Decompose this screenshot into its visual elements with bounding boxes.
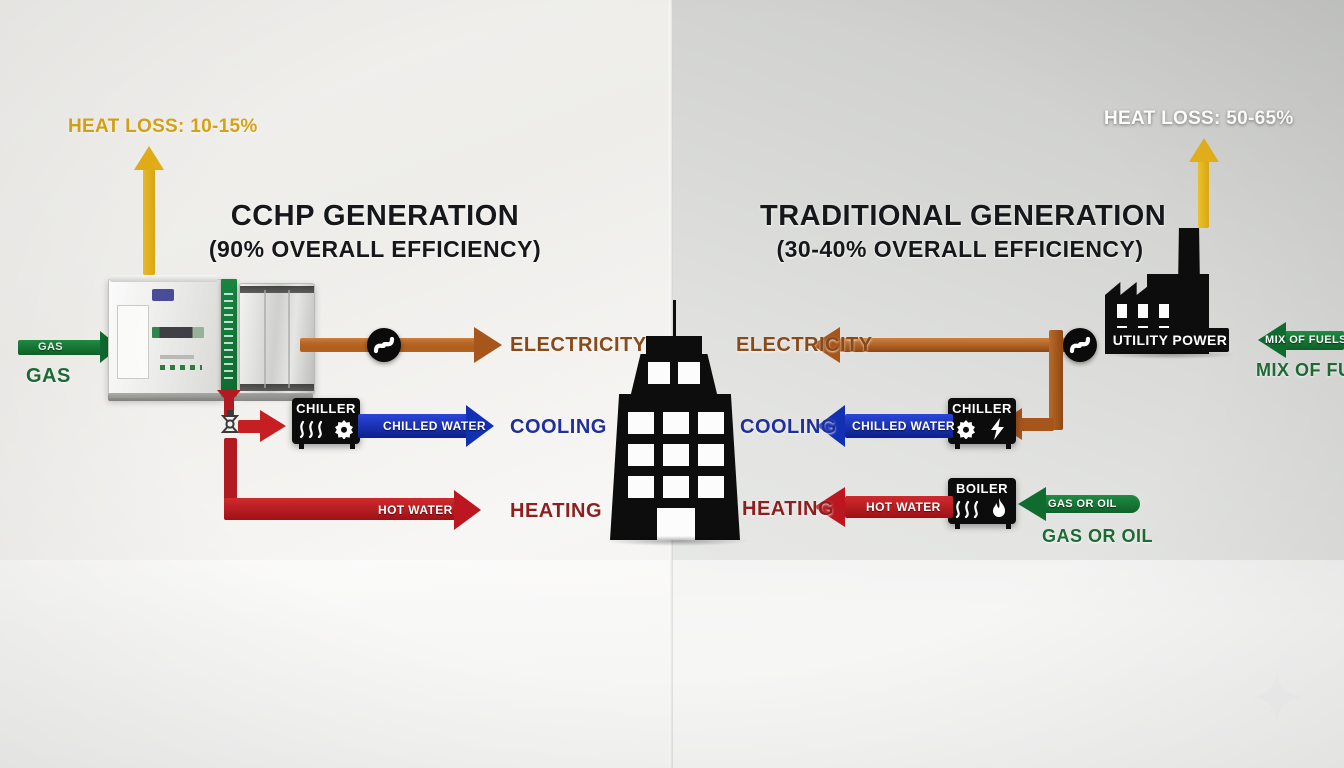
gas-or-oil-arrow-text: GAS OR OIL <box>1048 498 1117 510</box>
right-chiller-power-shaft <box>1020 418 1054 431</box>
heat-wave-icon <box>953 499 985 524</box>
gear-icon <box>956 419 976 444</box>
right-title-line2: (30-40% OVERALL EFFICIENCY) <box>760 236 1160 263</box>
building-antenna <box>673 300 676 336</box>
left-chiller-label: CHILLER <box>292 401 360 416</box>
cchp-door-panel <box>117 305 149 379</box>
right-heat-loss-label: HEAT LOSS: 50-65% <box>1104 108 1294 130</box>
building-window <box>628 476 654 498</box>
left-heat-loss-arrow-head <box>134 146 164 170</box>
heat-wave-icon <box>297 419 329 444</box>
right-title-line1: TRADITIONAL GENERATION <box>760 200 1160 233</box>
left-heat-loss-label: HEAT LOSS: 10-15% <box>68 116 258 138</box>
left-chiller-box: CHILLER <box>292 398 360 444</box>
left-hot-water-head <box>454 490 481 530</box>
ac-generator-icon <box>1063 328 1097 362</box>
cchp-seam-2 <box>288 290 290 388</box>
left-heating-label: HEATING <box>510 500 602 523</box>
left-chiller-leg-2 <box>350 444 355 449</box>
left-hot-feed-down-head <box>217 390 241 404</box>
cchp-unit <box>108 275 313 403</box>
right-boiler-label: BOILER <box>948 481 1016 496</box>
right-electricity-label: ELECTRICITY <box>736 334 873 357</box>
ac-generator-icon <box>367 328 401 362</box>
building-window <box>628 412 654 434</box>
right-cooling-label: COOLING <box>740 416 837 439</box>
left-cooling-label: COOLING <box>510 416 607 439</box>
cchp-indicator-lights <box>160 365 202 370</box>
factory-shadow <box>1105 350 1235 359</box>
right-boiler-leg-1 <box>955 524 960 529</box>
left-heat-loss-arrow-shaft <box>143 165 155 275</box>
gas-or-oil-label: GAS OR OIL <box>1042 526 1153 547</box>
cchp-spec-text <box>160 355 194 359</box>
right-boiler-box: BOILER <box>948 478 1016 524</box>
left-panel-title: CCHP GENERATION (90% OVERALL EFFICIENCY) <box>205 200 545 263</box>
left-chiller-feed-head <box>260 410 286 442</box>
building-window <box>698 476 724 498</box>
building-window <box>698 412 724 434</box>
right-panel-title: TRADITIONAL GENERATION (30-40% OVERALL E… <box>760 200 1160 263</box>
left-hot-water-text: HOT WATER <box>378 503 453 517</box>
building-window <box>663 412 689 434</box>
right-chiller-leg-1 <box>955 444 960 449</box>
building-window <box>678 362 700 384</box>
right-heat-loss-arrow-shaft <box>1198 158 1209 228</box>
left-electricity-arrow-head <box>474 327 502 363</box>
cchp-band-bottom <box>240 384 314 391</box>
left-title-line2: (90% OVERALL EFFICIENCY) <box>205 236 545 263</box>
building-window <box>663 476 689 498</box>
left-title-line1: CCHP GENERATION <box>205 200 545 233</box>
right-hot-water-text: HOT WATER <box>866 500 941 514</box>
building-window <box>663 444 689 466</box>
gas-or-oil-arrow-head <box>1018 487 1046 521</box>
sparkle-icon <box>1248 668 1306 726</box>
cchp-seam-1 <box>264 290 266 388</box>
flame-icon <box>990 498 1008 525</box>
cchp-base <box>108 393 313 401</box>
factory-window <box>1159 304 1169 318</box>
mix-of-fuels-arrow-text: MIX OF FUELS <box>1265 334 1344 346</box>
left-hot-water-riser <box>224 438 237 506</box>
cchp-band-top <box>240 286 314 293</box>
mix-of-fuels-label: MIX OF FUELS <box>1256 360 1344 381</box>
gear-icon <box>334 419 354 444</box>
bolt-icon <box>988 418 1008 445</box>
right-chiller-leg-2 <box>1006 444 1011 449</box>
building-upper-section <box>630 354 718 398</box>
building-window <box>698 444 724 466</box>
gas-input-label: GAS <box>26 365 71 388</box>
utility-power-label: UTILITY POWER <box>1111 332 1229 348</box>
utility-power-nameplate: UTILITY POWER <box>1111 328 1229 352</box>
cchp-top-rail <box>110 275 218 282</box>
building-window <box>628 444 654 466</box>
right-chiller-label: CHILLER <box>948 401 1016 416</box>
right-electricity-branch <box>1049 330 1063 430</box>
diagram-canvas: HEAT LOSS: 10-15% CCHP GENERATION (90% O… <box>0 0 1344 768</box>
cchp-green-strip <box>221 279 237 397</box>
utility-power-plant: UTILITY POWER <box>1105 228 1235 354</box>
cchp-strip-text <box>224 293 233 383</box>
cchp-logo-badge <box>152 289 174 301</box>
right-chiller-box: CHILLER <box>948 398 1016 444</box>
building-window <box>648 362 670 384</box>
factory-window <box>1117 304 1127 318</box>
factory-window <box>1138 304 1148 318</box>
right-boiler-leg-2 <box>1006 524 1011 529</box>
gas-input-arrow-text: GAS <box>38 341 63 353</box>
right-heat-loss-arrow-head <box>1189 138 1219 162</box>
right-heating-label: HEATING <box>742 498 834 521</box>
left-chilled-water-text: CHILLED WATER <box>383 419 486 433</box>
office-building <box>600 300 750 542</box>
right-chilled-water-text: CHILLED WATER <box>852 419 955 433</box>
building-shadow <box>606 536 748 546</box>
left-chiller-leg-1 <box>299 444 304 449</box>
cchp-brand-label <box>152 327 204 338</box>
